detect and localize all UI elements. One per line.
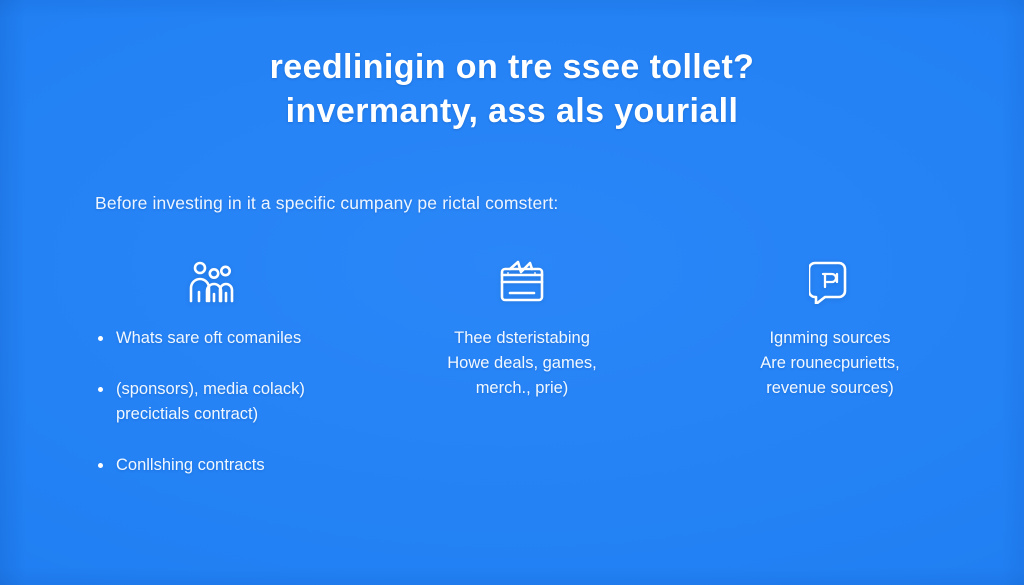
column-3-body: Ignming sources Are rounecpurietts, reve…	[676, 326, 984, 401]
list-item-line-2: precictials contract)	[116, 402, 368, 427]
content-columns: Whats sare oft comaniles (sponsors), med…	[60, 256, 984, 478]
list-item-line-1: (sponsors), media colack)	[116, 377, 368, 402]
content-column-2: Thee dsteristabing Howe deals, games, me…	[368, 256, 676, 401]
column-3-line-1: Are rounecpurietts,	[676, 351, 984, 376]
content-column-1: Whats sare oft comaniles (sponsors), med…	[60, 256, 368, 478]
bullet-dot-icon	[98, 387, 103, 392]
speech-bubble-pi-icon	[809, 256, 851, 308]
slide-title: reedlinigin on tre ssee tollet? inverman…	[0, 45, 1024, 133]
list-item: Conllshing contracts	[98, 453, 368, 478]
clapperboard-icon	[497, 256, 547, 308]
column-3-line-2: revenue sources)	[676, 376, 984, 401]
title-line-2: invermanty, ass als youriall	[0, 89, 1024, 133]
bullet-list: Whats sare oft comaniles (sponsors), med…	[60, 326, 368, 478]
title-line-1: reedlinigin on tre ssee tollet?	[0, 45, 1024, 89]
column-1-body: Whats sare oft comaniles (sponsors), med…	[60, 326, 368, 478]
column-3-heading: Ignming sources	[676, 326, 984, 351]
list-item-line-1: Conllshing contracts	[116, 453, 368, 478]
column-2-body: Thee dsteristabing Howe deals, games, me…	[368, 326, 676, 401]
people-group-icon	[187, 256, 241, 308]
column-2-heading: Thee dsteristabing	[368, 326, 676, 351]
slide-canvas: reedlinigin on tre ssee tollet? inverman…	[0, 0, 1024, 585]
list-item: Whats sare oft comaniles	[98, 326, 368, 351]
bullet-dot-icon	[98, 463, 103, 468]
column-2-line-2: merch., prie)	[368, 376, 676, 401]
content-column-3: Ignming sources Are rounecpurietts, reve…	[676, 256, 984, 401]
list-item-line-1: Whats sare oft comaniles	[116, 326, 368, 351]
slide-subtitle: Before investing in it a specific cumpan…	[95, 193, 558, 214]
column-2-line-1: Howe deals, games,	[368, 351, 676, 376]
list-item: (sponsors), media colack) precictials co…	[98, 377, 368, 427]
bullet-dot-icon	[98, 336, 103, 341]
